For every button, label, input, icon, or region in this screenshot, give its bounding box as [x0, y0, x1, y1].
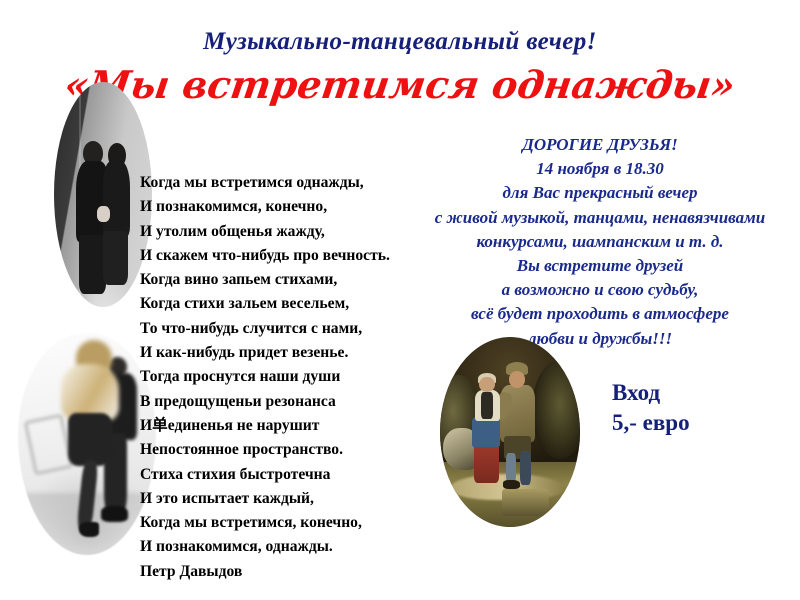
- foliage-right: [532, 360, 580, 459]
- poem-line: Когда вино запьем стихами,: [140, 268, 430, 292]
- painting-man-stocking-right: [520, 451, 531, 485]
- announcement-line: Вы встретите друзей: [400, 254, 800, 278]
- painting-woman-vest: [481, 392, 494, 419]
- poem-line: Когда стихи зальем весельем,: [140, 292, 430, 316]
- announcement-line: любви и дружбы!!!: [400, 327, 800, 351]
- poem-line: Непостоянное пространство.: [140, 438, 430, 462]
- announcement-line: для Вас прекрасный вечер: [400, 181, 800, 205]
- announcement-line: конкурсами, шампанским и т. д.: [400, 230, 800, 254]
- clasped-hands: [97, 206, 110, 222]
- poem-line: Когда мы встретимся однажды,: [140, 171, 430, 195]
- announcement-line: с живой музыкой, танцами, ненавязчивами: [400, 206, 800, 230]
- painting-rustic-meeting: [440, 337, 580, 527]
- entry-price: 5,- евро: [612, 408, 690, 438]
- poem-line: И познакомимся, однажды.: [140, 535, 430, 559]
- poem-line: Стиха стихия быстротечна: [140, 463, 430, 487]
- poem-line: В предощущеньи резонанса: [140, 390, 430, 414]
- dancer-man-shoe: [101, 506, 129, 522]
- photo-couple-talking: [54, 82, 152, 307]
- chair: [24, 414, 74, 476]
- poem-line: И как-нибудь придет везенье.: [140, 341, 430, 365]
- poem-line: И познакомимся, конечно,: [140, 195, 430, 219]
- poem-line: Тогда проснутся наши души: [140, 365, 430, 389]
- painting-woman-head: [479, 377, 494, 392]
- dancer-woman-shoe: [79, 522, 100, 538]
- painting-woman-red-skirt: [474, 442, 499, 484]
- painting-woman-blue-skirt: [472, 417, 500, 447]
- announcement-line: 14 ноября в 18.30: [400, 157, 800, 181]
- poem-block: Когда мы встретимся однажды, И познакоми…: [140, 171, 430, 584]
- poster-heading-line1: Музыкально-танцевальный вечер!: [0, 28, 800, 56]
- entry-label: Вход: [612, 378, 690, 408]
- poem-line: То что-нибудь случится с нами,: [140, 317, 430, 341]
- poem-line: И утолим общенья жажду,: [140, 220, 430, 244]
- announcement-block: ДОРОГИЕ ДРУЗЬЯ! 14 ноября в 18.30 для Ва…: [400, 133, 800, 351]
- entry-price-block: Вход 5,- евро: [612, 378, 690, 438]
- announcement-line: ДОРОГИЕ ДРУЗЬЯ!: [400, 133, 800, 157]
- dancer-woman-skirt: [68, 413, 114, 466]
- poem-line: Когда мы встретимся, конечно,: [140, 511, 430, 535]
- event-poster: Музыкально-танцевальный вечер! «Мы встре…: [0, 0, 800, 600]
- poem-line: И скажем что-нибудь про вечность.: [140, 244, 430, 268]
- poem-author: Петр Давыдов: [140, 560, 430, 584]
- stone-step: [502, 489, 550, 516]
- man-legs: [79, 235, 106, 294]
- woman-skirt: [103, 231, 128, 285]
- photo-dancing-blur: [18, 333, 156, 555]
- painting-man-stocking-left: [506, 453, 516, 483]
- announcement-line: всё будет проходить в атмосфере: [400, 302, 800, 326]
- poem-line: И это испытает каждый,: [140, 487, 430, 511]
- poem-line: И单единенья не нарушит: [140, 414, 430, 438]
- painting-man-shoe: [503, 480, 520, 490]
- announcement-line: а возможно и свою судьбу,: [400, 278, 800, 302]
- woman-body: [103, 161, 130, 238]
